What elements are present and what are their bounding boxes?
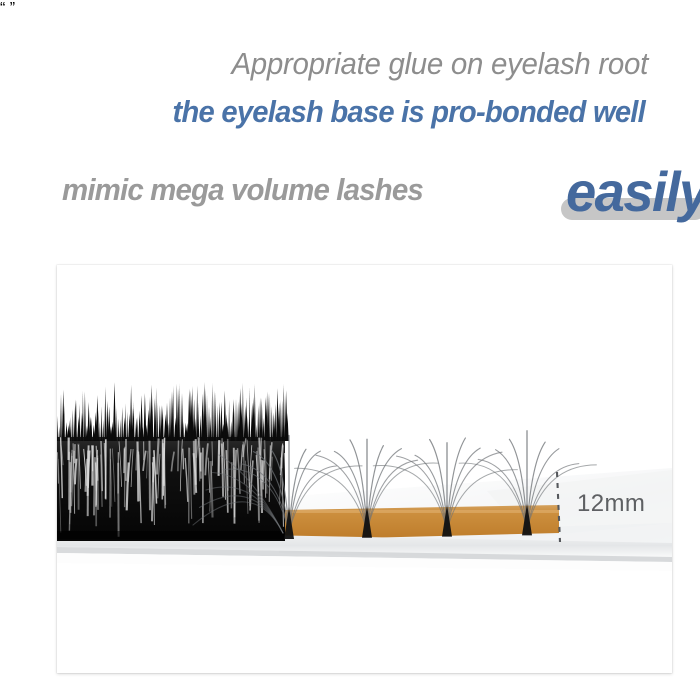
tagline-line-3-normal-text: mimic mega volume lashes bbox=[62, 172, 423, 208]
lash-tray-photograph bbox=[57, 265, 672, 673]
tagline-line-3: mimic mega volume lashes easily bbox=[58, 163, 678, 221]
open-quote-icon: “ bbox=[0, 0, 5, 17]
tagline-line-1: Appropriate glue on eyelash root bbox=[32, 46, 648, 82]
product-photo-panel: 12mm bbox=[57, 265, 672, 673]
tagline-line-3-accent-text: easily bbox=[566, 159, 700, 224]
close-quote-icon: ” bbox=[10, 0, 15, 17]
tagline-line-2: the eyelash base is pro-bonded well bbox=[39, 94, 645, 130]
headline-block: “ Appropriate glue on eyelash root ” the… bbox=[0, 0, 700, 245]
measurement-label: 12mm bbox=[577, 490, 645, 518]
